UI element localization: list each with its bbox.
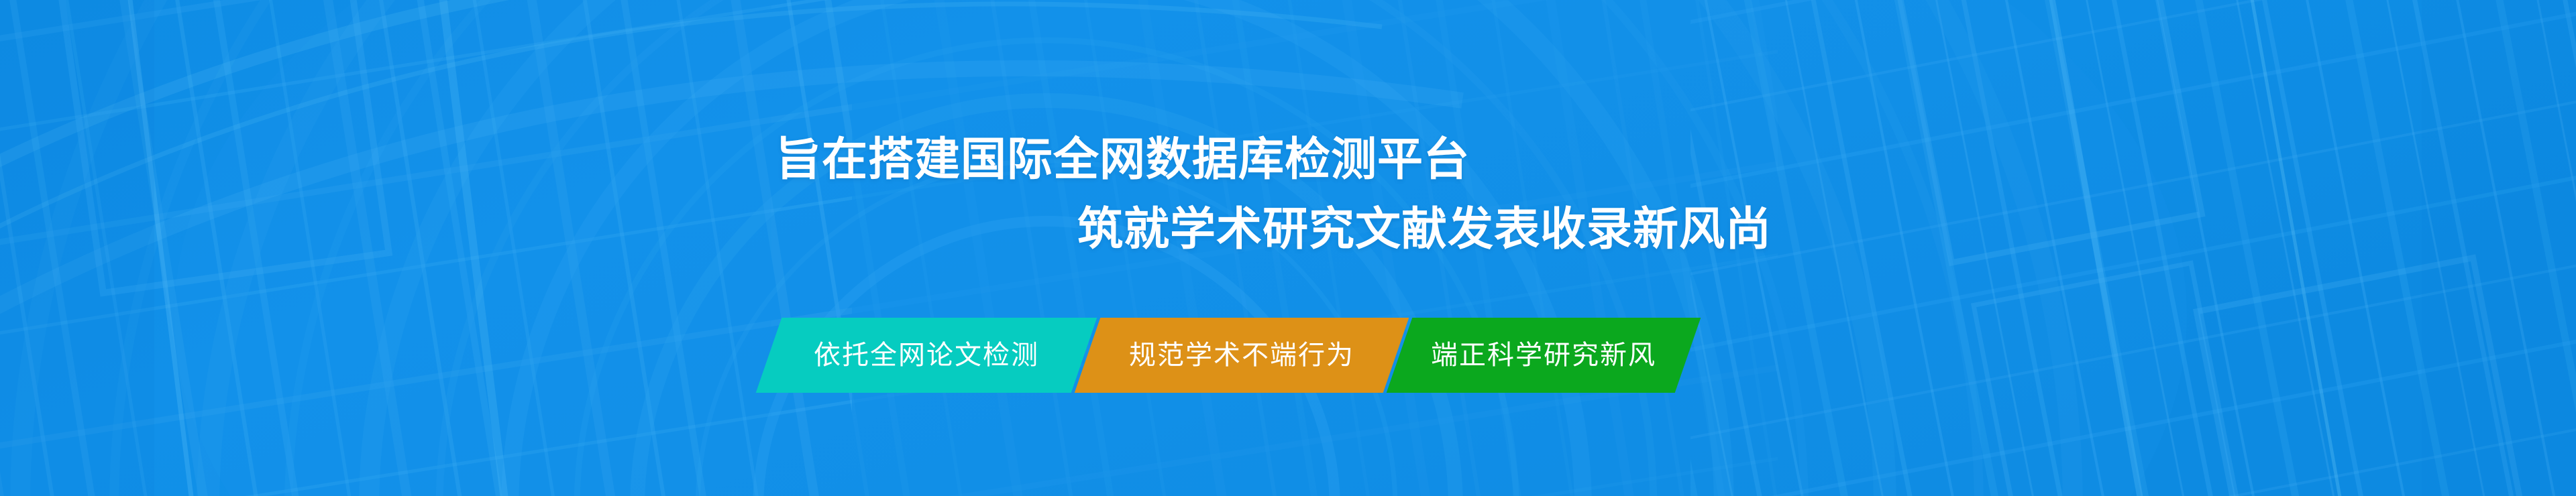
banner-content: 旨在搭建国际全网数据库检测平台 筑就学术研究文献发表收录新风尚 依托全网论文检测… bbox=[0, 0, 2576, 496]
feature-tag-paper-detection[interactable]: 依托全网论文检测 bbox=[756, 318, 1097, 393]
feature-tag-misconduct-regulation[interactable]: 规范学术不端行为 bbox=[1075, 318, 1409, 393]
headline-line-1: 旨在搭建国际全网数据库检测平台 bbox=[0, 125, 2576, 194]
feature-tag-label: 端正科学研究新风 bbox=[1431, 342, 1656, 369]
headline-line-2: 筑就学术研究文献发表收录新风尚 bbox=[0, 194, 2576, 264]
hero-banner: 旨在搭建国际全网数据库检测平台 筑就学术研究文献发表收录新风尚 依托全网论文检测… bbox=[0, 0, 2576, 496]
feature-tag-strip: 依托全网论文检测 规范学术不端行为 端正科学研究新风 bbox=[769, 318, 1688, 393]
feature-tag-label: 依托全网论文检测 bbox=[814, 342, 1039, 369]
feature-tag-label: 规范学术不端行为 bbox=[1129, 342, 1354, 369]
feature-tag-research-ethics[interactable]: 端正科学研究新风 bbox=[1387, 318, 1701, 393]
headline-block: 旨在搭建国际全网数据库检测平台 筑就学术研究文献发表收录新风尚 bbox=[0, 125, 2576, 264]
